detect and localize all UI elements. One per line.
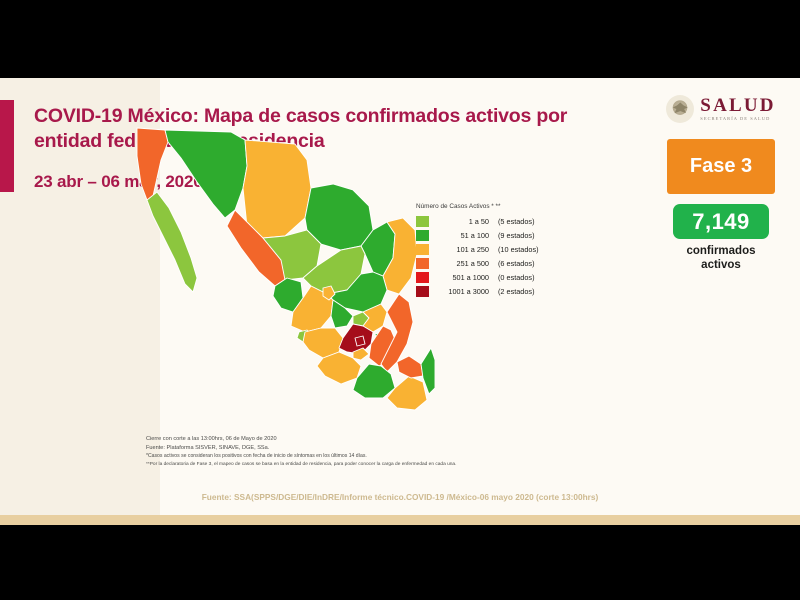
slide-bottom-bar [0,515,800,525]
legend-swatch-icon [416,230,429,241]
legend-range: 51 a 100 [435,231,489,240]
legend-state-count: (2 estados) [498,287,535,296]
legend-range: 251 a 500 [435,259,489,268]
legend-state-count: (5 estados) [498,217,535,226]
legend-title: Número de Casos Activos * ** [416,203,566,210]
screenshot-stage: COVID-19 México: Mapa de casos confirmad… [0,0,800,600]
footnote-source-platform: Fuente: Plataforma SISVER, SINAVE, DGE, … [146,445,576,451]
status-panel: SALUD SECRETARÍA DE SALUD Fase 3 7,149 c… [655,92,787,273]
footnote-cutoff: Cierre con corte a las 13:00hrs, 06 de M… [146,436,576,442]
legend-item: 1001 a 3000 (2 estados) [416,284,566,298]
active-cases-caption: confirmados activos [655,244,787,273]
salud-logo: SALUD SECRETARÍA DE SALUD [655,92,787,126]
map-region-chihuahua [243,140,311,238]
legend-item: 251 a 500 (6 estados) [416,256,566,270]
phase-badge-label: Fase 3 [690,155,752,178]
map-region-baja-california-sur [147,192,197,292]
legend-range: 501 a 1000 [435,273,489,282]
legend-swatch-icon [416,272,429,283]
legend-swatch-icon [416,216,429,227]
map-region-tabasco [397,356,423,378]
active-cases-caption-line1: confirmados [655,244,787,258]
footnote-active-cases-definition: *Casos activos se consideran los positiv… [146,453,576,459]
legend-swatch-icon [416,258,429,269]
title-accent-bar [0,100,14,192]
phase-badge: Fase 3 [667,139,775,194]
salud-logo-subtext: SECRETARÍA DE SALUD [700,117,775,121]
salud-logo-text: SALUD [700,96,775,115]
legend-range: 1 a 50 [435,217,489,226]
map-legend: Número de Casos Activos * ** 1 a 50 (5 e… [416,203,566,298]
mexico-choropleth-map [135,126,435,416]
legend-item: 51 a 100 (9 estados) [416,228,566,242]
legend-swatch-icon [416,244,429,255]
footnotes: Cierre con corte a las 13:00hrs, 06 de M… [146,436,576,469]
source-line: Fuente: SSA(SPPS/DGE/DIE/InDRE/Informe t… [0,492,800,502]
legend-state-count: (0 estados) [498,273,535,282]
legend-item: 101 a 250 (10 estados) [416,242,566,256]
map-region-ciudad-de-mexico [355,336,365,346]
legend-state-count: (10 estados) [498,245,539,254]
legend-state-count: (9 estados) [498,231,535,240]
legend-range: 1001 a 3000 [435,287,489,296]
active-cases-caption-line2: activos [655,258,787,272]
legend-item: 1 a 50 (5 estados) [416,214,566,228]
footnote-phase3-note: **Por la declaratoria de Fase 3, el mape… [146,462,576,467]
presentation-slide: COVID-19 México: Mapa de casos confirmad… [0,78,800,525]
legend-item: 501 a 1000 (0 estados) [416,270,566,284]
legend-swatch-icon [416,286,429,297]
active-cases-badge: 7,149 [673,204,769,239]
legend-state-count: (6 estados) [498,259,535,268]
map-region-sonora [165,130,247,218]
map-region-baja-california [137,128,168,200]
mexico-eagle-seal-icon [666,95,694,123]
legend-range: 101 a 250 [435,245,489,254]
active-cases-value: 7,149 [692,209,750,235]
